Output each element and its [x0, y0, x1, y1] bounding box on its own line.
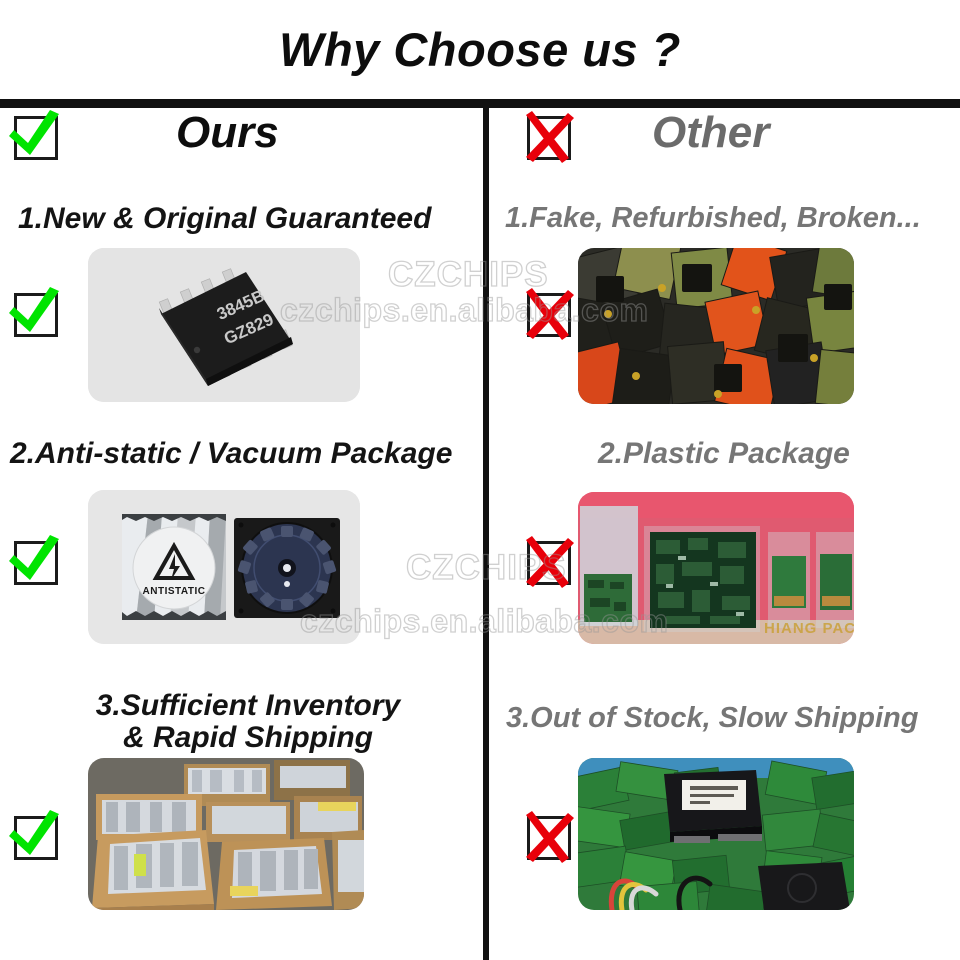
cross-icon	[519, 810, 575, 864]
cross-icon	[519, 110, 575, 164]
feature-heading-ours-3-line2: & Rapid Shipping	[68, 722, 428, 754]
cross-glyph	[519, 287, 575, 341]
check-icon	[6, 810, 62, 864]
header-divider	[0, 99, 960, 108]
feature-heading-other-3: 3.Out of Stock, Slow Shipping	[506, 703, 918, 734]
feature-heading-ours-1: 1.New & Original Guaranteed	[18, 203, 431, 235]
column-divider	[483, 104, 489, 960]
check-icon	[6, 110, 62, 164]
cross-icon	[519, 535, 575, 589]
photo-ic-chip: 3845B GZ829	[88, 248, 360, 402]
photo-watermark-hiang-pack: HIANG PACK	[764, 620, 854, 637]
check-icon	[6, 535, 62, 589]
check-glyph	[6, 287, 62, 341]
cross-glyph	[519, 810, 575, 864]
check-glyph	[6, 810, 62, 864]
feature-heading-ours-3-line1: 3.Sufficient Inventory	[68, 690, 428, 722]
check-glyph	[6, 110, 62, 164]
photo-plastic-package: HIANG PACK	[578, 492, 854, 644]
photo-used-chips-pile	[578, 248, 854, 404]
feature-heading-other-1: 1.Fake, Refurbished, Broken...	[505, 203, 921, 234]
photo-scrap-pcb-pile	[578, 758, 854, 910]
photo-antistatic-package: ANTISTATIC	[88, 490, 360, 644]
page-title: Why Choose us ?	[0, 22, 960, 77]
svg-text:ANTISTATIC: ANTISTATIC	[143, 586, 206, 597]
check-glyph	[6, 535, 62, 589]
cross-icon	[519, 287, 575, 341]
feature-heading-ours-2: 2.Anti-static / Vacuum Package	[10, 438, 452, 470]
feature-heading-other-2: 2.Plastic Package	[598, 438, 850, 470]
cross-glyph	[519, 535, 575, 589]
column-header-other: Other	[652, 108, 769, 158]
photo-inventory-boxes	[88, 758, 364, 910]
cross-glyph	[519, 110, 575, 164]
comparison-infographic: Why Choose us ? Ours Other 1.New & Origi…	[0, 0, 960, 960]
column-header-ours: Ours	[176, 108, 279, 158]
feature-heading-ours-3: 3.Sufficient Inventory & Rapid Shipping	[68, 690, 428, 755]
check-icon	[6, 287, 62, 341]
